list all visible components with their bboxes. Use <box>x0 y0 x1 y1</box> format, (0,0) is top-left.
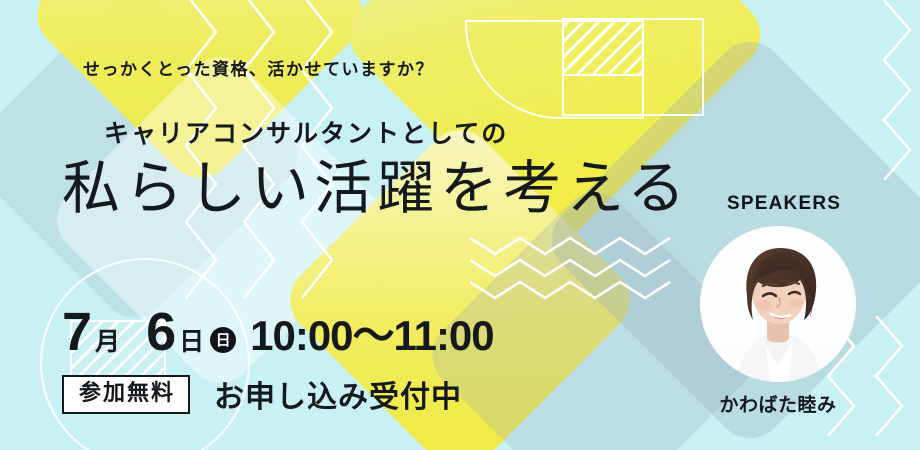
square-outline-arc <box>465 20 644 119</box>
speaker-avatar <box>700 226 856 382</box>
kicker-text: せっかくとった資格、活かせていますか？ <box>83 55 434 80</box>
event-time-range: 10:00〜11:00 <box>250 302 494 363</box>
day-of-week-badge: 日 <box>210 327 236 353</box>
subheadline-text: キャリアコンサルタントとしての <box>104 114 508 150</box>
registration-row: 参加無料 お申し込み受付中 <box>62 372 462 416</box>
speaker-name: かわばた睦み <box>700 390 856 417</box>
event-datetime: 7 月 6 日 日 10:00〜11:00 <box>62 302 494 363</box>
hatched-square-top <box>562 18 644 76</box>
zigzag-lines-horizontal <box>470 232 710 302</box>
free-entry-badge: 参加無料 <box>62 375 190 414</box>
webinar-banner: せっかくとった資格、活かせていますか？ キャリアコンサルタントとしての 私らしい… <box>0 0 920 450</box>
event-month-unit: 月 <box>95 322 120 358</box>
page-title: 私らしい活躍を考える <box>62 158 690 219</box>
event-day-number: 6 <box>146 305 176 359</box>
zigzag-lines-far-right <box>878 0 920 180</box>
square-outline-shape <box>562 18 704 116</box>
event-month-number: 7 <box>62 305 92 359</box>
grey-diamond-right <box>538 28 920 450</box>
apply-status-text: お申し込み受付中 <box>214 372 462 416</box>
event-day-unit: 日 <box>179 322 204 358</box>
speaker-portrait-icon <box>700 226 856 382</box>
speakers-label: SPEAKERS <box>727 193 841 215</box>
